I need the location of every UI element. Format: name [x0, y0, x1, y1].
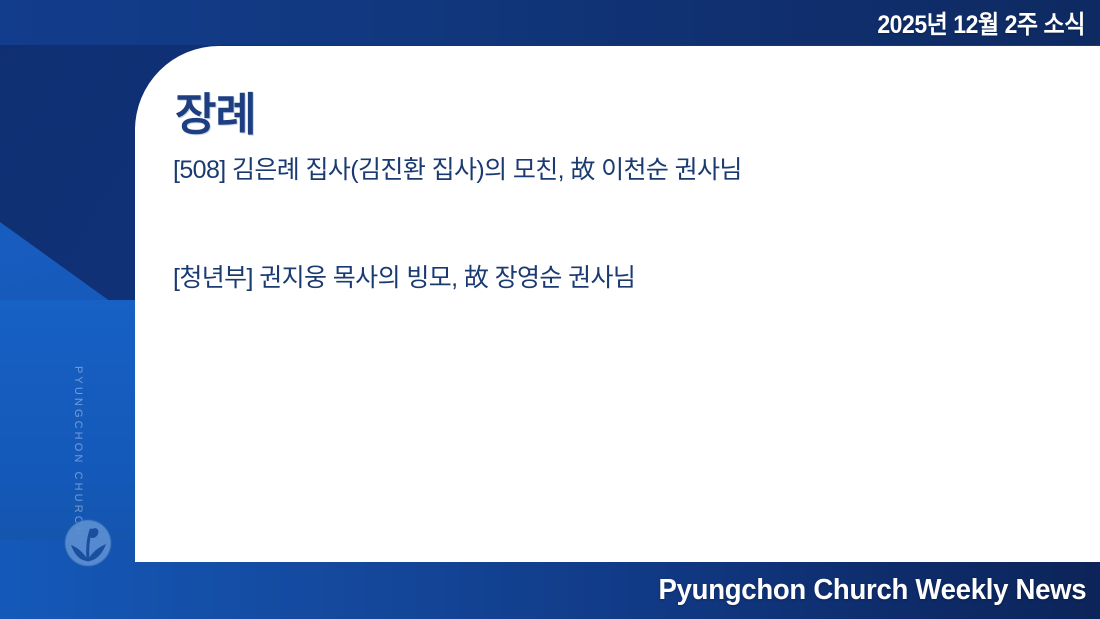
pyungchon-church-logo-icon — [61, 516, 115, 570]
list-item: [508] 김은례 집사(김진환 집사)의 모친, 故 이천순 권사님 — [173, 154, 1060, 188]
header-date-label: 2025년 12월 2주 소식 — [878, 5, 1100, 41]
vertical-brand-watermark: PYUNGCHON CHURCH — [72, 366, 84, 538]
page-title: 장례 — [175, 78, 256, 143]
footer-brand-label: Pyungchon Church Weekly News — [658, 574, 1086, 607]
slide-canvas: 2025년 12월 2주 소식 장례 [508] 김은례 집사(김진환 집사)의… — [0, 0, 1100, 619]
header-band: 2025년 12월 2주 소식 — [0, 0, 1100, 45]
content-card: 장례 [508] 김은례 집사(김진환 집사)의 모친, 故 이천순 권사님 [… — [135, 46, 1100, 562]
notice-list: [508] 김은례 집사(김진환 집사)의 모친, 故 이천순 권사님 [청년부… — [173, 154, 1060, 370]
list-item: [청년부] 권지웅 목사의 빙모, 故 장영순 권사님 — [173, 262, 1060, 296]
